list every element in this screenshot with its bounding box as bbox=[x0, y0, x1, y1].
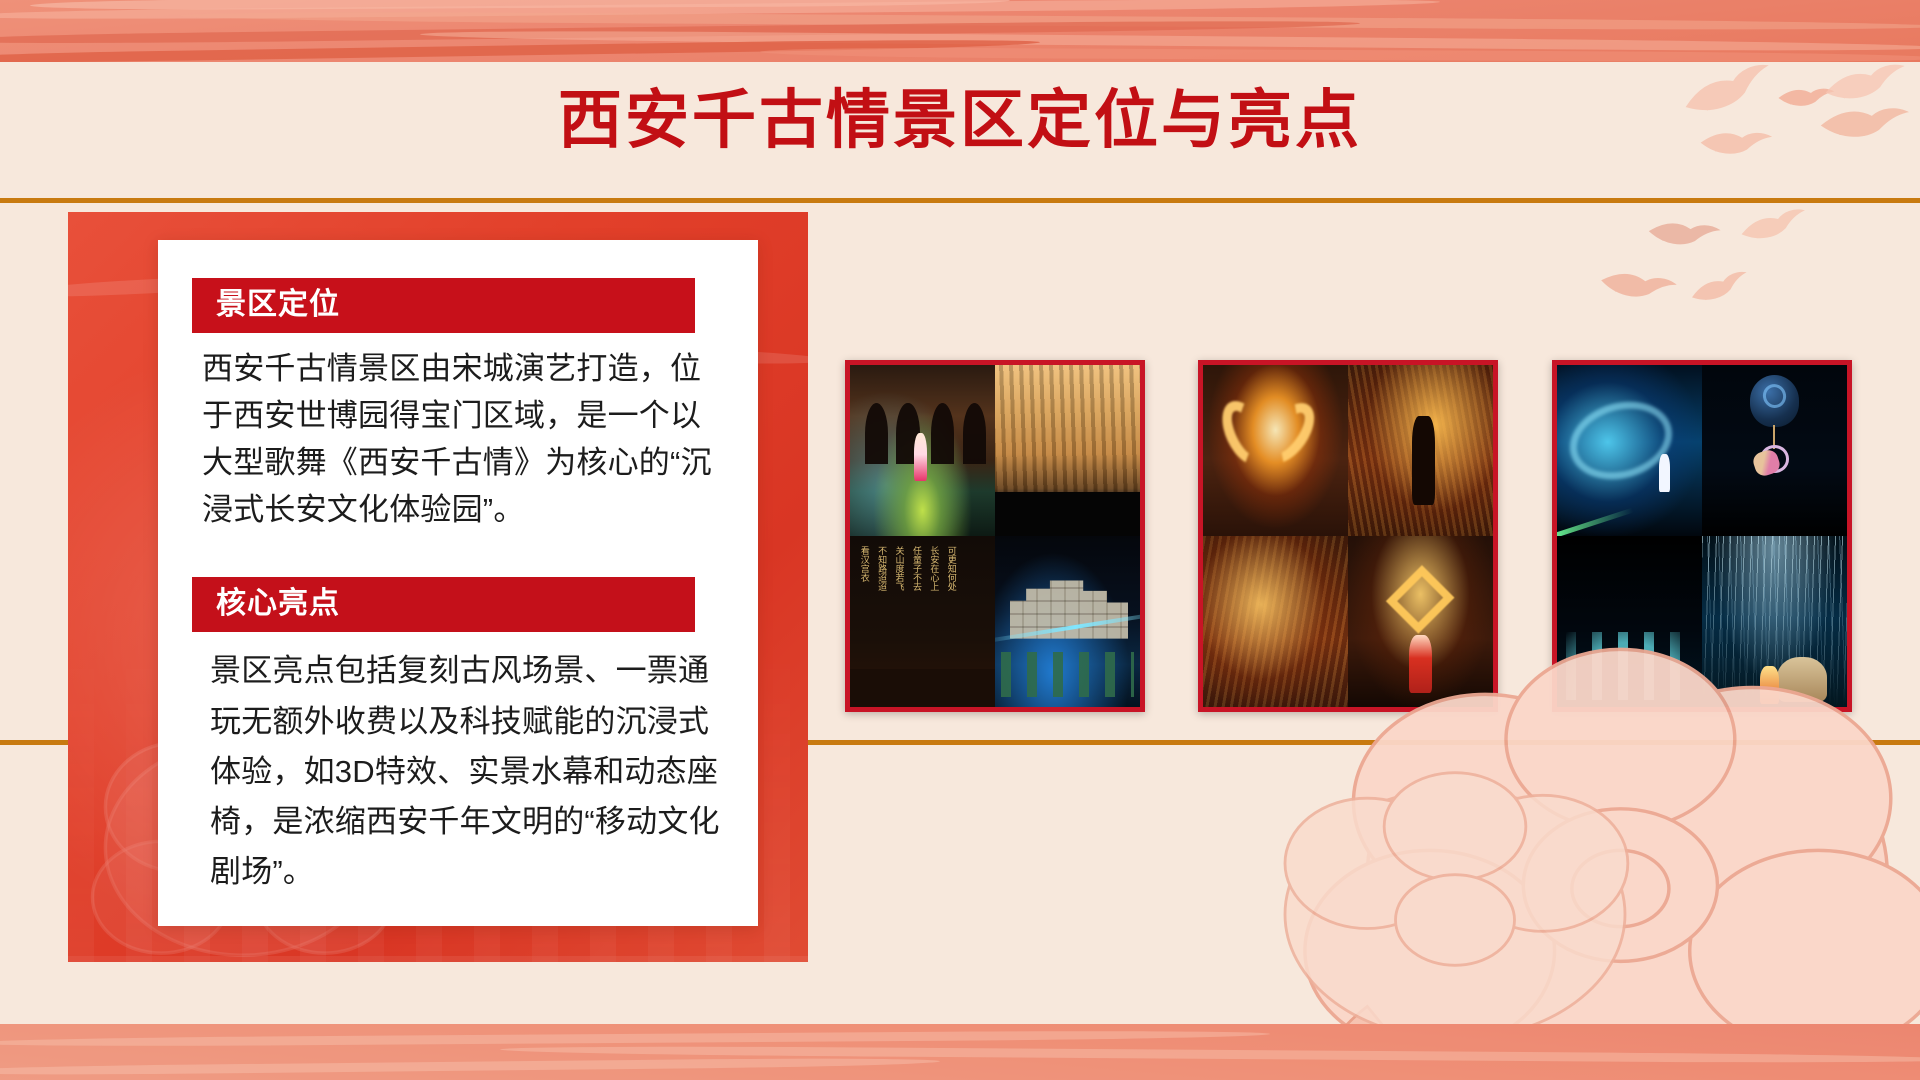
section-heading-highlights: 核心亮点 bbox=[192, 577, 695, 632]
top-decorative-banner bbox=[0, 0, 1920, 62]
calligraphy-wall-han-palace-photo: 看汉宫衣 不知路迢迢 关山度若飞 任童子不去 长安在心上 可更知何处 bbox=[850, 536, 995, 707]
bird-flying-pair-right-icon bbox=[1687, 263, 1755, 313]
section-heading-positioning: 景区定位 bbox=[192, 278, 695, 333]
peony-flower-secondary-icon bbox=[1240, 716, 1670, 1056]
fire-dancer-twin-flame-arcs-photo bbox=[1203, 365, 1348, 536]
section-body-highlights: 景区亮点包括复刻古风场景、一票通玩无额外收费以及科技赋能的沉浸式体验，如3D特效… bbox=[192, 632, 724, 897]
gold-divider-top bbox=[0, 198, 1920, 203]
bird-flying-wide-icon bbox=[1817, 91, 1914, 156]
bird-flying-gold-icon bbox=[1738, 200, 1812, 251]
bottom-decorative-banner bbox=[0, 1024, 1920, 1080]
slide-canvas: 西安千古情景区定位与亮点 景区定位 西安千古情景区由宋城演艺打造，位于西安世博园… bbox=[0, 0, 1920, 1080]
bird-perched-blue-icon bbox=[1642, 198, 1728, 272]
content-card: 景区定位 西安千古情景区由宋城演艺打造，位于西安世博园得宝门区域，是一个以大型歌… bbox=[158, 240, 758, 926]
stage-performers-water-screen-photo bbox=[850, 365, 995, 536]
page-title: 西安千古情景区定位与亮点 bbox=[0, 88, 1920, 152]
section-body-positioning: 西安千古情景区由宋城演艺打造，位于西安世博园得宝门区域，是一个以大型歌舞《西安千… bbox=[192, 333, 724, 533]
bird-flying-pair-left-icon bbox=[1594, 251, 1684, 323]
performance-stage-collage[interactable]: 看汉宫衣 不知路迢迢 关山度若飞 任童子不去 长安在心上 可更知何处 bbox=[845, 360, 1145, 712]
aerial-hoop-balloon-acrobat-photo bbox=[1702, 365, 1847, 536]
terracotta-warriors-blue-laser-photo bbox=[995, 536, 1140, 707]
performer-throwing-fire-sparks-photo bbox=[1348, 365, 1493, 536]
blue-laser-swirl-solo-performer-photo bbox=[1557, 365, 1702, 536]
fire-rain-waterfall-photo bbox=[995, 365, 1140, 536]
